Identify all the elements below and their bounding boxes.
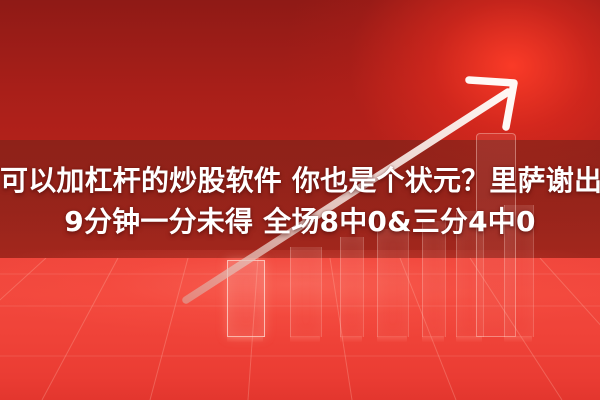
headline-line-2: 9分钟一分未得 全场8中0&三分4中0: [0, 201, 600, 242]
chart-bar-base-8: [504, 336, 532, 342]
chart-bar-1: [227, 260, 265, 337]
chart-bar-base-4: [377, 336, 407, 342]
chart-bar-base-2: [290, 336, 320, 342]
promo-banner: 可以加杠杆的炒股软件 你也是个状元？里萨谢出战1 9分钟一分未得 全场8中0&三…: [0, 0, 600, 400]
headline-line-1: 可以加杠杆的炒股软件 你也是个状元？里萨谢出战1: [0, 160, 600, 201]
page-title: 可以加杠杆的炒股软件 你也是个状元？里萨谢出战1 9分钟一分未得 全场8中0&三…: [0, 160, 600, 242]
chart-bar-3: [340, 237, 364, 337]
chart-bar-4: [377, 229, 409, 337]
chart-bar-base-1: [227, 336, 263, 342]
chart-bar-2: [290, 247, 322, 337]
chart-bar-base-3: [340, 336, 362, 342]
chart-bar-base-5: [422, 336, 444, 342]
